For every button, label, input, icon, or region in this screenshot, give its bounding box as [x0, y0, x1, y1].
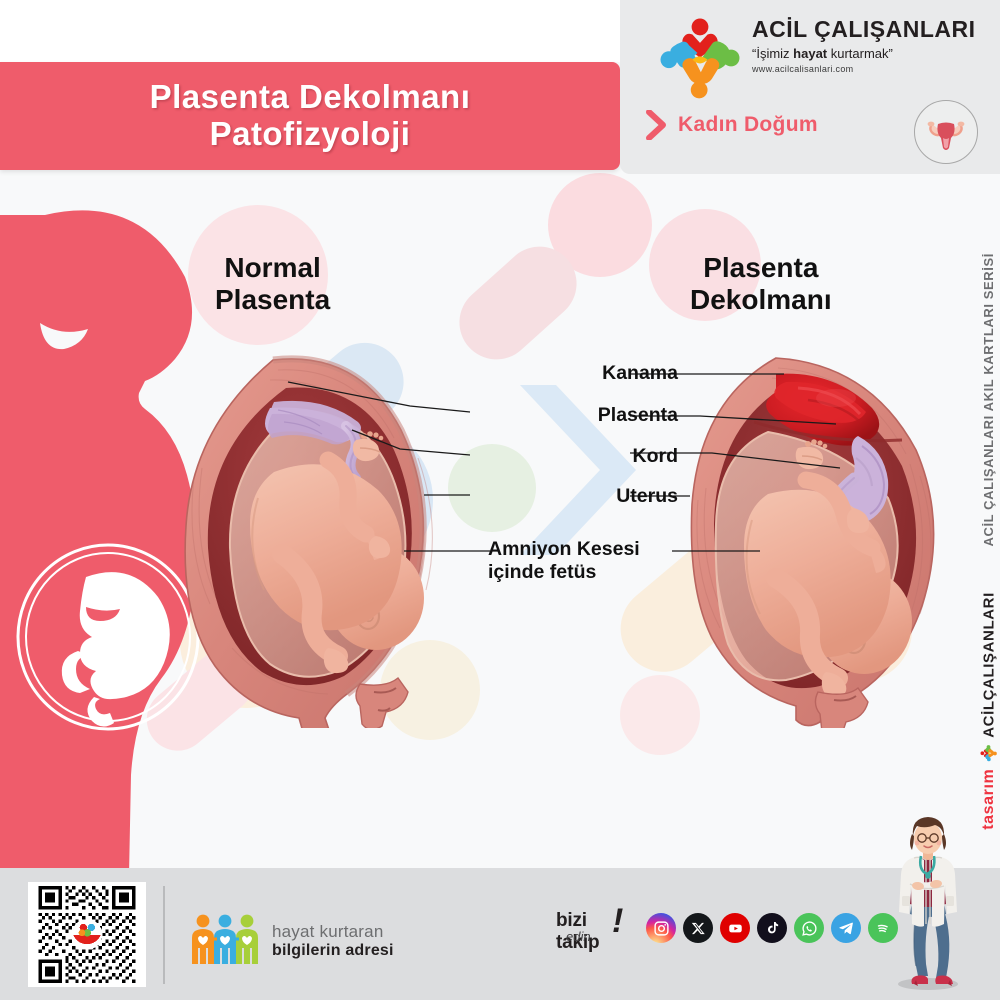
brand-url: www.acilcalisanlari.com [752, 64, 992, 74]
brand-logo-card: ACİL ÇALIŞANLARI “İşimiz hayat kurtarmak… [620, 0, 1000, 174]
credit-brand: ACİLÇALIŞANLARI [981, 592, 998, 738]
instagram-icon[interactable] [646, 913, 676, 943]
callout-label-plasenta: Plasenta [598, 404, 678, 427]
callout-label-amniyon-line-2: içinde fetüs [488, 561, 640, 584]
uterus-badge [914, 100, 978, 164]
callout-label-kord: Kord [633, 445, 679, 468]
follow-us-exclamation: ! [612, 904, 623, 938]
hayat-kurtaran-top: hayat kurtaran [272, 922, 394, 942]
page-title-line-1: Plasenta Dekolmanı [150, 79, 471, 116]
brand-slogan-suffix: kurtarmak” [827, 46, 893, 61]
diagram-heading-right-line-1: Plasenta [690, 252, 832, 284]
credit-brand-rest: ÇALIŞANLARI [981, 592, 998, 700]
hayat-kurtaran-block: hayat kurtaran bilgilerin adresi [190, 912, 394, 970]
hayat-kurtaran-bottom: bilgilerin adresi [272, 942, 394, 960]
brand-text-block: ACİL ÇALIŞANLARI “İşimiz hayat kurtarmak… [752, 18, 992, 74]
follow-us-text: bizi takip edin ! [556, 906, 632, 950]
callout-label-uterus: Uterus [616, 485, 678, 508]
brand-slogan: “İşimiz hayat kurtarmak” [752, 46, 992, 61]
people-pinwheel-small-icon [981, 745, 998, 762]
category-row[interactable]: Kadın Doğum [646, 110, 818, 140]
page-title-band: Plasenta Dekolmanı Patofizyoloji [0, 62, 620, 170]
hayat-kurtaran-text: hayat kurtaran bilgilerin adresi [272, 922, 394, 960]
brand-slogan-bold: hayat [793, 46, 827, 61]
page-title-line-2: Patofizyoloji [210, 116, 411, 153]
uterus-illustration-abruption [658, 348, 958, 728]
brand-logo-row: ACİL ÇALIŞANLARI “İşimiz hayat kurtarmak… [648, 14, 988, 100]
brand-name: ACİL ÇALIŞANLARI [752, 18, 992, 41]
callout-label-amniyon: Amniyon Kesesi içinde fetüs [488, 538, 640, 584]
tiktok-icon[interactable] [757, 913, 787, 943]
category-label: Kadın Doğum [678, 113, 818, 137]
x-twitter-icon[interactable] [683, 913, 713, 943]
infographic-page: Plasenta Dekolmanı Patofizyoloji [0, 0, 1000, 1000]
social-icon-list [646, 913, 898, 943]
qr-code-pattern [32, 886, 142, 983]
diagram-heading-right-line-2: Dekolmanı [690, 284, 832, 316]
follow-us-line-2: edin [566, 929, 591, 944]
diagram-heading-right: Plasenta Dekolmanı [690, 252, 832, 317]
diagram-heading-left-line-2: Plasenta [215, 284, 330, 316]
diagram-heading-left: Normal Plasenta [215, 252, 330, 317]
diagram-heading-left-line-1: Normal [215, 252, 330, 284]
credit-vertical-block: tasarım ACİLÇALIŞANLARI [980, 592, 998, 830]
uterus-icon [924, 110, 968, 154]
brand-slogan-prefix: “İşimiz [752, 46, 793, 61]
telegram-icon[interactable] [831, 913, 861, 943]
people-pinwheel-logo-icon [658, 16, 742, 100]
credit-tasarim: tasarım [980, 769, 998, 830]
qr-code[interactable] [28, 882, 146, 987]
uterus-illustration-normal [178, 348, 478, 728]
series-vertical-text: ACİL ÇALIŞANLARI AKIL KARTLARI SERİSİ [981, 253, 996, 547]
credit-brand-bold: ACİL [981, 700, 998, 737]
follow-us-block: bizi takip edin ! [556, 906, 898, 950]
chevron-right-icon [646, 110, 666, 140]
callout-label-amniyon-line-1: Amniyon Kesesi [488, 538, 640, 561]
footer-divider [163, 886, 165, 984]
callout-label-group: Kanama Plasenta Kord Uterus Amniyon Kese… [470, 352, 690, 592]
callout-label-kanama: Kanama [602, 362, 678, 385]
whatsapp-icon[interactable] [794, 913, 824, 943]
youtube-icon[interactable] [720, 913, 750, 943]
female-doctor-illustration [874, 814, 982, 992]
three-people-icon [190, 912, 262, 970]
